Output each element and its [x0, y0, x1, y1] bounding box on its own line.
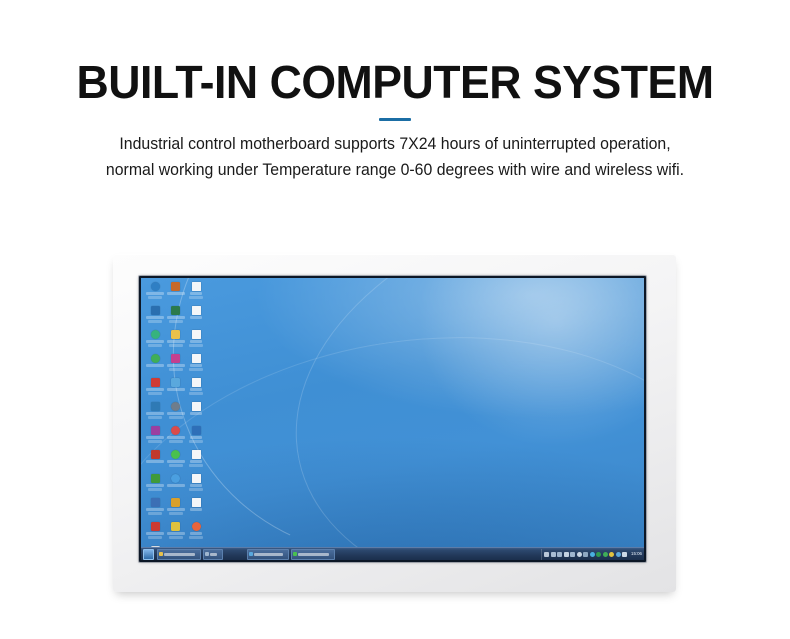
tray-update-icon[interactable]: [609, 552, 614, 557]
notepad-icon[interactable]: [166, 328, 186, 351]
tray-display-icon[interactable]: [551, 552, 556, 557]
taskbar-item-media-label: [298, 553, 329, 556]
desktop-icon-label: [167, 484, 185, 487]
desktop-icon-label-line2: [169, 416, 183, 419]
spreadsheet-doc-icon[interactable]: [186, 496, 206, 519]
settings-doc-icon[interactable]: [186, 328, 206, 351]
desktop-screen[interactable]: 15:06: [141, 278, 644, 560]
photo-viewer-icon[interactable]: [145, 400, 165, 423]
desktop-icon-label: [146, 436, 164, 439]
desktop-icon-label-line2: [148, 296, 162, 299]
cloud-sync-icon-glyph: [171, 474, 180, 483]
desktop-icon-label: [146, 388, 164, 391]
wechat-icon-glyph: [171, 450, 180, 459]
antivirus-icon[interactable]: [145, 328, 165, 351]
security-guard-icon-glyph: [151, 354, 160, 363]
antivirus-icon-glyph: [151, 330, 160, 339]
qq-messenger-icon-glyph: [171, 426, 180, 435]
notes-doc-icon-glyph: [192, 450, 201, 459]
desktop-icon-label: [167, 508, 185, 511]
disc-burner-icon-glyph: [171, 402, 180, 411]
settings-doc-icon-glyph: [192, 330, 201, 339]
tools-icon[interactable]: [166, 376, 186, 399]
desktop-icon-label-line2: [148, 536, 162, 539]
disc-burner-icon[interactable]: [166, 400, 186, 423]
store-app-icon-glyph: [151, 426, 160, 435]
pdf-reader-icon[interactable]: [145, 376, 165, 399]
document-icon[interactable]: [186, 280, 206, 303]
desktop-icon-label: [167, 340, 185, 343]
readme-icon-glyph: [192, 354, 201, 363]
media-player-icon-glyph: [151, 306, 160, 315]
taskbar-item-document-icon: [249, 552, 253, 556]
wallpaper-curve-1: [141, 278, 644, 560]
flash-player-icon-glyph: [151, 522, 160, 531]
desktop-icon-label: [167, 316, 185, 319]
desktop-icon-label: [190, 316, 202, 319]
desktop-icon-label-line2: [189, 344, 203, 347]
database-icon[interactable]: [145, 496, 165, 519]
desktop-icon-label: [146, 364, 164, 367]
desktop-icon-label: [167, 388, 185, 391]
utility-icon[interactable]: [166, 496, 186, 519]
subtitle-line-2: normal working under Temperature range 0…: [64, 158, 726, 184]
title-divider-wrap: [0, 106, 790, 132]
tray-network-icon[interactable]: [557, 552, 562, 557]
notepad-icon-glyph: [171, 330, 180, 339]
desktop-icon-label: [167, 364, 185, 367]
screen-frame: 15:06: [139, 276, 646, 562]
taskbar-items: [157, 549, 337, 560]
computer-icon-glyph: [151, 282, 160, 291]
desktop-icon-label-line2: [148, 440, 162, 443]
wechat-icon[interactable]: [166, 448, 186, 471]
cloud-sync-icon[interactable]: [166, 472, 186, 495]
wallpaper-glow: [418, 278, 644, 447]
notes-doc-icon[interactable]: [186, 448, 206, 471]
desktop-icon-label: [146, 532, 164, 535]
desktop-icon-label-line2: [189, 368, 203, 371]
desktop-icon-label: [190, 436, 202, 439]
taskbar-item-explorer-icon: [159, 552, 163, 556]
tray-chevron-icon[interactable]: [583, 552, 588, 557]
taskbar-item-document[interactable]: [247, 549, 289, 560]
desktop-icon-label-line2: [189, 392, 203, 395]
desktop-icon-label: [190, 532, 202, 535]
desktop-icon-label: [146, 412, 164, 415]
desktop-icon-label-line2: [148, 416, 162, 419]
security-guard-icon[interactable]: [145, 352, 165, 375]
qq-messenger-icon[interactable]: [166, 424, 186, 447]
desktop-icon-label: [167, 412, 185, 415]
desktop-icon-label: [146, 508, 164, 511]
taskbar-clock[interactable]: 15:06: [629, 552, 642, 556]
system-tray[interactable]: [541, 549, 629, 560]
text-file-icon-glyph: [192, 306, 201, 315]
folder-doc-icon[interactable]: [186, 376, 206, 399]
shortcut-doc-icon-glyph: [192, 402, 201, 411]
browser-icon[interactable]: [166, 280, 186, 303]
tray-power-icon[interactable]: [577, 552, 582, 557]
excel-icon-glyph: [171, 306, 180, 315]
desktop-icon-label-line2: [169, 440, 183, 443]
contacts-icon[interactable]: [186, 424, 206, 447]
desktop-icon-label: [190, 364, 202, 367]
flash-player-icon[interactable]: [145, 520, 165, 543]
desktop-icon-label: [167, 532, 185, 535]
tools-icon-glyph: [171, 378, 180, 387]
page-title: BUILT-IN COMPUTER SYSTEM: [12, 58, 778, 106]
desktop-icon-label: [190, 340, 202, 343]
desktop-icon-label-line2: [189, 440, 203, 443]
desktop-icon-label: [146, 484, 164, 487]
taskbar-item-explorer-label: [164, 553, 195, 556]
music-player-icon-glyph: [171, 354, 180, 363]
folder-doc-icon-glyph: [192, 378, 201, 387]
desktop-icon-label-line2: [189, 296, 203, 299]
battery-tool-icon-glyph: [171, 522, 180, 531]
desktop-icon-label: [146, 292, 164, 295]
readme-icon[interactable]: [186, 352, 206, 375]
excel-icon[interactable]: [166, 304, 186, 327]
tray-wifi-icon[interactable]: [622, 552, 627, 557]
desktop-icon-label-line2: [169, 464, 183, 467]
desktop-icon-label: [146, 460, 164, 463]
tray-security-icon[interactable]: [596, 552, 601, 557]
taskbar-item-media-icon: [293, 552, 297, 556]
monitor-stage: 15:06: [0, 247, 790, 607]
utility-icon-glyph: [171, 498, 180, 507]
taskbar-item-media[interactable]: [291, 549, 335, 560]
desktop-icon-label: [190, 412, 202, 415]
desktop-icon-label: [190, 292, 202, 295]
database-icon-glyph: [151, 498, 160, 507]
desktop-icon-grid: [145, 280, 207, 560]
spreadsheet-doc-icon-glyph: [192, 498, 201, 507]
start-button[interactable]: [143, 549, 154, 560]
page-subtitle: Industrial control motherboard supports …: [64, 132, 726, 183]
desktop-icon-label-line2: [148, 488, 162, 491]
desktop-icon-label: [190, 460, 202, 463]
wallpaper-curve-3: [141, 296, 644, 560]
computer-icon[interactable]: [145, 280, 165, 303]
photo-viewer-icon-glyph: [151, 402, 160, 411]
desktop-icon-label-line2: [169, 320, 183, 323]
office-word-icon[interactable]: [145, 448, 165, 471]
desktop-icon-label: [167, 292, 185, 295]
desktop-icon-label-line2: [148, 344, 162, 347]
log-doc-icon-glyph: [192, 474, 201, 483]
tray-messenger-icon[interactable]: [603, 552, 608, 557]
desktop-icon-label-line2: [189, 464, 203, 467]
desktop-icon-label: [146, 340, 164, 343]
title-divider: [379, 118, 411, 121]
taskbar-item-tool[interactable]: [203, 549, 223, 560]
desktop-icon-label-line2: [148, 392, 162, 395]
video-editor-icon-glyph: [151, 474, 160, 483]
shortcut-doc-icon[interactable]: [186, 400, 206, 423]
desktop-icon-label: [190, 508, 202, 511]
office-word-icon-glyph: [151, 450, 160, 459]
wallpaper-curve-2: [257, 278, 644, 560]
page-header: BUILT-IN COMPUTER SYSTEM Industrial cont…: [0, 0, 790, 183]
store-app-icon[interactable]: [145, 424, 165, 447]
video-editor-icon[interactable]: [145, 472, 165, 495]
monitor-bezel: 15:06: [113, 254, 676, 592]
desktop-icon-label: [190, 484, 202, 487]
desktop-icon-label: [167, 436, 185, 439]
desktop-icon-label-line2: [169, 368, 183, 371]
taskbar-item-tool-icon: [205, 552, 209, 556]
text-file-icon[interactable]: [186, 304, 206, 327]
desktop-icon-label: [167, 460, 185, 463]
tray-monitor-icon[interactable]: [544, 552, 549, 557]
chrome-browser-icon[interactable]: [186, 520, 206, 543]
pdf-reader-icon-glyph: [151, 378, 160, 387]
tray-keyboard-icon[interactable]: [570, 552, 575, 557]
subtitle-line-1: Industrial control motherboard supports …: [64, 132, 726, 158]
battery-tool-icon[interactable]: [166, 520, 186, 543]
desktop-icon-label-line2: [169, 512, 183, 515]
chrome-browser-icon-glyph: [192, 522, 201, 531]
contacts-icon-glyph: [192, 426, 201, 435]
desktop-icon-label-line2: [189, 488, 203, 491]
music-player-icon[interactable]: [166, 352, 186, 375]
taskbar[interactable]: 15:06: [141, 547, 644, 560]
desktop-icon-label: [146, 316, 164, 319]
desktop-icon-label-line2: [189, 536, 203, 539]
tray-input-icon[interactable]: [564, 552, 569, 557]
log-doc-icon[interactable]: [186, 472, 206, 495]
desktop-icon-label-line2: [148, 320, 162, 323]
taskbar-item-document-label: [254, 553, 283, 556]
taskbar-item-explorer[interactable]: [157, 549, 201, 560]
desktop-icon-label-line2: [169, 344, 183, 347]
desktop-icon-label-line2: [148, 512, 162, 515]
desktop-icon-label-line2: [169, 536, 183, 539]
tray-volume-icon[interactable]: [616, 552, 621, 557]
document-icon-glyph: [192, 282, 201, 291]
taskbar-item-tool-label: [210, 553, 217, 556]
tray-antivirus-icon[interactable]: [590, 552, 595, 557]
desktop-icon-label: [190, 388, 202, 391]
browser-icon-glyph: [171, 282, 180, 291]
media-player-icon[interactable]: [145, 304, 165, 327]
